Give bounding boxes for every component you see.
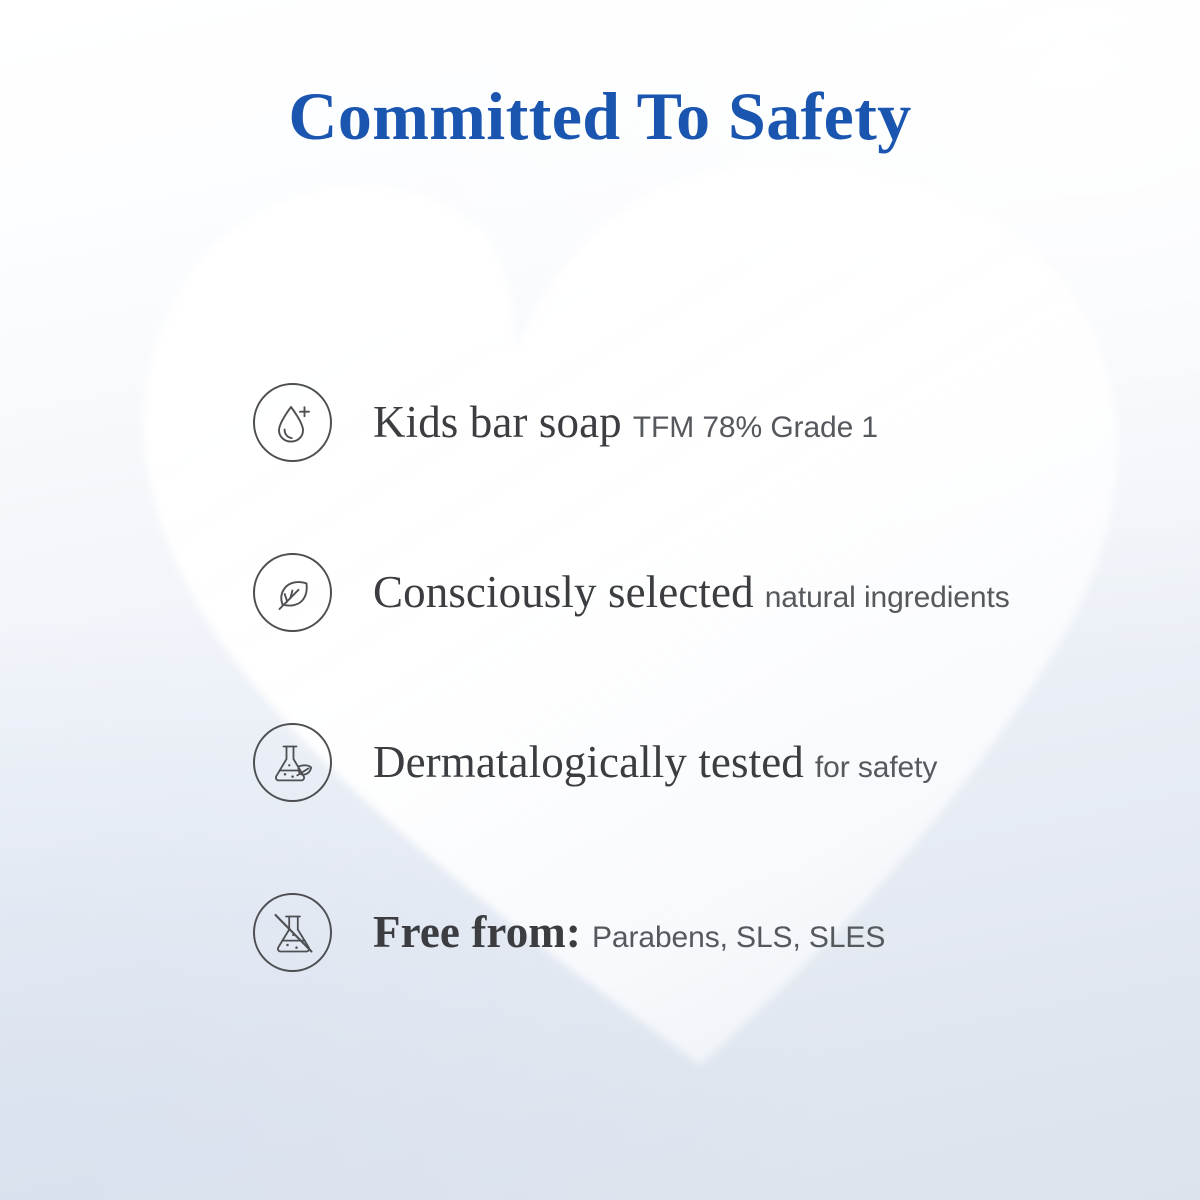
feature-secondary-label: natural ingredients [765,583,1010,613]
water-drop-plus-icon [253,383,332,462]
feature-row-kids-bar-soap: Kids bar soap TFM 78% Grade 1 [253,383,1153,462]
feature-primary-label: Dermatalogically tested [373,740,804,785]
flask-leaf-icon [253,723,332,802]
flask-no-icon [253,893,332,972]
feature-primary-label: Free from: [373,910,581,955]
safety-claims-panel: Committed To Safety Kids bar soap TFM 78… [0,0,1200,1200]
feature-secondary-label: TFM 78% Grade 1 [633,413,878,443]
feature-row-dermatologically-tested: Dermatalogically tested for safety [253,723,1153,802]
feature-secondary-label: for safety [815,753,937,783]
feature-primary-label: Kids bar soap [373,400,622,445]
feature-text: Kids bar soap TFM 78% Grade 1 [373,400,878,445]
feature-row-natural-ingredients: Consciously selected natural ingredients [253,553,1153,632]
page-title: Committed To Safety [0,82,1200,150]
feature-row-free-from: Free from: Parabens, SLS, SLES [253,893,1153,972]
feature-text: Free from: Parabens, SLS, SLES [373,910,885,955]
feature-primary-label: Consciously selected [373,570,754,615]
feature-secondary-label: Parabens, SLS, SLES [592,923,885,953]
feature-text: Dermatalogically tested for safety [373,740,937,785]
feature-text: Consciously selected natural ingredients [373,570,1010,615]
leaf-icon [253,553,332,632]
feature-list: Kids bar soap TFM 78% Grade 1 Consciousl… [253,383,1153,972]
